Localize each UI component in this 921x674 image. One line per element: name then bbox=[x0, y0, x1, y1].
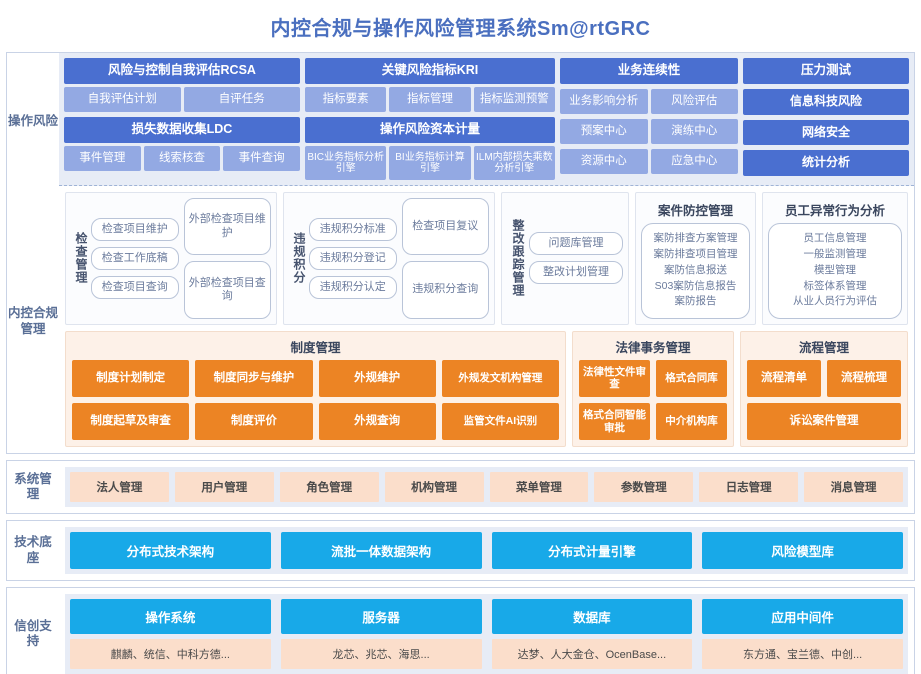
menu-regulatory-doc-ai-recognition[interactable]: 监管文件AI识别 bbox=[442, 403, 559, 440]
module-stress-test-header[interactable]: 压力测试 bbox=[743, 58, 909, 84]
module-kri: 关键风险指标KRI 指标要素 指标管理 指标监测预警 bbox=[305, 58, 555, 112]
menu-bi-engine[interactable]: BI业务指标计算引擎 bbox=[389, 146, 470, 180]
menu-emergency-center[interactable]: 应急中心 bbox=[651, 149, 739, 174]
group-label-inspection: 检查管理 bbox=[71, 198, 91, 319]
menu-menu-management[interactable]: 菜单管理 bbox=[490, 472, 589, 502]
menu-event-management[interactable]: 事件管理 bbox=[64, 146, 141, 171]
system-management-frame: 系统管理 法人管理 用户管理 角色管理 机构管理 菜单管理 参数管理 日志管理 … bbox=[6, 460, 915, 514]
section-label-tech-foundation: 技术底座 bbox=[7, 521, 59, 580]
menu-business-impact-analysis[interactable]: 业务影响分析 bbox=[560, 89, 648, 114]
xinchuang-vendors-os: 麒麟、统信、中科方德... bbox=[70, 639, 271, 669]
menu-litigation-case-management[interactable]: 诉讼案件管理 bbox=[747, 403, 901, 440]
tech-foundation-frame: 技术底座 分布式技术架构 流批一体数据架构 分布式计量引擎 风险模型库 bbox=[6, 520, 915, 581]
menu-process-combing[interactable]: 流程梳理 bbox=[827, 360, 901, 397]
menu-distributed-measurement-engine[interactable]: 分布式计量引擎 bbox=[492, 532, 693, 569]
section-label-xinchuang-support: 信创支持 bbox=[7, 588, 59, 674]
xinchuang-vendors-server: 龙芯、兆芯、海思... bbox=[281, 639, 482, 669]
module-or-capital-header[interactable]: 操作风险资本计量 bbox=[305, 117, 555, 143]
section-label-internal-control: 内控合规管理 bbox=[7, 191, 59, 453]
group-title-process-management: 流程管理 bbox=[747, 336, 901, 360]
module-ldc: 损失数据收集LDC 事件管理 线索核查 事件查询 bbox=[64, 117, 300, 171]
system-management-body: 法人管理 用户管理 角色管理 机构管理 菜单管理 参数管理 日志管理 消息管理 bbox=[59, 461, 914, 513]
main-frame-labels: 操作风险 内控合规管理 bbox=[7, 53, 59, 453]
menu-case-screening-project[interactable]: 案防排查项目管理 bbox=[654, 247, 738, 263]
menu-message-management[interactable]: 消息管理 bbox=[804, 472, 903, 502]
menu-statistical-analysis[interactable]: 统计分析 bbox=[743, 150, 909, 176]
menu-legal-document-review[interactable]: 法律性文件审查 bbox=[579, 360, 650, 397]
section-label-operational-risk: 操作风险 bbox=[7, 53, 59, 191]
module-or-capital: 操作风险资本计量 BIC业务指标分析引擎 BI业务指标计算引擎 ILM内部损失乘… bbox=[305, 117, 555, 180]
title-bar: 内控合规与操作风险管理系统Sm@rtGRC bbox=[0, 0, 921, 52]
xinchuang-head-middleware[interactable]: 应用中间件 bbox=[702, 599, 903, 634]
menu-violation-point-registration[interactable]: 违规积分登记 bbox=[309, 247, 397, 270]
menu-intermediary-agency-library[interactable]: 中介机构库 bbox=[656, 403, 727, 440]
menu-network-security[interactable]: 网络安全 bbox=[743, 120, 909, 146]
menu-it-risk[interactable]: 信息科技风险 bbox=[743, 89, 909, 115]
grc-architecture-diagram: 内控合规与操作风险管理系统Sm@rtGRC 操作风险 内控合规管理 风险与控制自… bbox=[0, 0, 921, 640]
menu-user-management[interactable]: 用户管理 bbox=[175, 472, 274, 502]
internal-control-panel: 检查管理 检查项目维护 检查工作底稿 检查项目查询 外部检查项目维护 外部检查项… bbox=[59, 186, 914, 454]
menu-practitioner-behavior-assessment[interactable]: 从业人员行为评估 bbox=[793, 294, 877, 310]
xinchuang-column-middleware: 应用中间件 东方通、宝兰德、中创... bbox=[702, 599, 903, 669]
menu-policy-drafting-review[interactable]: 制度起草及审查 bbox=[72, 403, 189, 440]
xinchuang-vendors-middleware: 东方通、宝兰德、中创... bbox=[702, 639, 903, 669]
xinchuang-head-database[interactable]: 数据库 bbox=[492, 599, 693, 634]
menu-s03-case-info-report[interactable]: S03案防信息报告 bbox=[655, 279, 737, 295]
menu-distributed-tech-architecture[interactable]: 分布式技术架构 bbox=[70, 532, 271, 569]
menu-drill-center[interactable]: 演练中心 bbox=[651, 119, 739, 144]
menu-external-inspection-query[interactable]: 外部检查项目查询 bbox=[184, 261, 272, 319]
menu-external-regulation-query[interactable]: 外规查询 bbox=[319, 403, 436, 440]
xinchuang-head-server[interactable]: 服务器 bbox=[281, 599, 482, 634]
menu-resource-center[interactable]: 资源中心 bbox=[560, 149, 648, 174]
group-process-management: 流程管理 流程清单 流程梳理 诉讼案件管理 bbox=[740, 331, 908, 447]
menu-legal-entity-management[interactable]: 法人管理 bbox=[70, 472, 169, 502]
menu-bic-engine[interactable]: BIC业务指标分析引擎 bbox=[305, 146, 386, 180]
module-business-continuity-header[interactable]: 业务连续性 bbox=[560, 58, 738, 84]
menu-case-info-submission[interactable]: 案防信息报送 bbox=[664, 263, 727, 279]
menu-log-management[interactable]: 日志管理 bbox=[699, 472, 798, 502]
xinchuang-support-body: 操作系统 麒麟、统信、中科方德... 服务器 龙芯、兆芯、海思... 数据库 达… bbox=[59, 588, 914, 674]
tech-foundation-body: 分布式技术架构 流批一体数据架构 分布式计量引擎 风险模型库 bbox=[59, 521, 914, 580]
page-title: 内控合规与操作风险管理系统Sm@rtGRC bbox=[270, 12, 650, 41]
menu-self-assessment-plan[interactable]: 自我评估计划 bbox=[64, 87, 181, 112]
module-rcsa: 风险与控制自我评估RCSA 自我评估计划 自评任务 bbox=[64, 58, 300, 112]
menu-case-report[interactable]: 案防报告 bbox=[675, 294, 717, 310]
group-violation-points: 违规积分 违规积分标准 违规积分登记 违规积分认定 检查项目复议 违规积分查询 bbox=[283, 192, 495, 325]
xinchuang-vendors-database: 达梦、人大金仓、OcenBase... bbox=[492, 639, 693, 669]
menu-parameter-management[interactable]: 参数管理 bbox=[594, 472, 693, 502]
group-label-violation-points: 违规积分 bbox=[289, 198, 309, 319]
menu-self-assessment-task[interactable]: 自评任务 bbox=[184, 87, 301, 112]
xinchuang-column-server: 服务器 龙芯、兆芯、海思... bbox=[281, 599, 482, 669]
menu-indicator-monitoring-alert[interactable]: 指标监测预警 bbox=[474, 87, 555, 112]
menu-standard-contract-library[interactable]: 格式合同库 bbox=[656, 360, 727, 397]
group-rectification-tracking: 整改跟踪管理 问题库管理 整改计划管理 bbox=[501, 192, 629, 325]
menu-standard-contract-ai-approval[interactable]: 格式合同智能审批 bbox=[579, 403, 650, 440]
module-rcsa-header[interactable]: 风险与控制自我评估RCSA bbox=[64, 58, 300, 84]
main-architecture-frame: 操作风险 内控合规管理 风险与控制自我评估RCSA 自我评估计划 自评任务 bbox=[6, 52, 915, 454]
menu-organization-management[interactable]: 机构管理 bbox=[385, 472, 484, 502]
menu-case-screening-plan[interactable]: 案防排查方案管理 bbox=[654, 231, 738, 247]
menu-role-management[interactable]: 角色管理 bbox=[280, 472, 379, 502]
xinchuang-column-database: 数据库 达梦、人大金仓、OcenBase... bbox=[492, 599, 693, 669]
menu-indicator-management[interactable]: 指标管理 bbox=[389, 87, 470, 112]
group-policy-management: 制度管理 制度计划制定 制度起草及审查 制度同步与维护 制度评价 bbox=[65, 331, 566, 447]
menu-inspection-item-query[interactable]: 检查项目查询 bbox=[91, 276, 179, 299]
menu-inspection-item-maintenance[interactable]: 检查项目维护 bbox=[91, 218, 179, 241]
section-label-system-management: 系统管理 bbox=[7, 461, 59, 513]
operational-risk-panel: 风险与控制自我评估RCSA 自我评估计划 自评任务 损失数据收集LDC 事件管理… bbox=[59, 53, 914, 186]
menu-inspection-item-review[interactable]: 检查项目复议 bbox=[402, 198, 490, 256]
group-title-employee-behavior: 员工异常行为分析 bbox=[768, 198, 902, 223]
menu-employee-info-management[interactable]: 员工信息管理 bbox=[804, 231, 867, 247]
group-label-rectification: 整改跟踪管理 bbox=[507, 198, 529, 319]
menu-issue-library-management[interactable]: 问题库管理 bbox=[529, 232, 623, 255]
menu-stream-batch-data-architecture[interactable]: 流批一体数据架构 bbox=[281, 532, 482, 569]
menu-clue-verification[interactable]: 线索核查 bbox=[144, 146, 221, 171]
group-case-prevention: 案件防控管理 案防排查方案管理 案防排查项目管理 案防信息报送 S03案防信息报… bbox=[635, 192, 756, 325]
xinchuang-column-os: 操作系统 麒麟、统信、中科方德... bbox=[70, 599, 271, 669]
group-title-policy-management: 制度管理 bbox=[72, 336, 559, 360]
menu-list-employee-behavior[interactable]: 员工信息管理 一般监测管理 模型管理 标签体系管理 从业人员行为评估 bbox=[768, 223, 902, 319]
xinchuang-head-os[interactable]: 操作系统 bbox=[70, 599, 271, 634]
menu-plan-center[interactable]: 预案中心 bbox=[560, 119, 648, 144]
menu-indicator-element[interactable]: 指标要素 bbox=[305, 87, 386, 112]
module-ldc-header[interactable]: 损失数据收集LDC bbox=[64, 117, 300, 143]
menu-process-list[interactable]: 流程清单 bbox=[747, 360, 821, 397]
menu-violation-point-determination[interactable]: 违规积分认定 bbox=[309, 276, 397, 299]
group-title-case-prevention: 案件防控管理 bbox=[641, 198, 750, 223]
menu-tag-system-management[interactable]: 标签体系管理 bbox=[804, 279, 867, 295]
menu-risk-model-library[interactable]: 风险模型库 bbox=[702, 532, 903, 569]
group-inspection-management: 检查管理 检查项目维护 检查工作底稿 检查项目查询 外部检查项目维护 外部检查项… bbox=[65, 192, 277, 325]
menu-policy-evaluation[interactable]: 制度评价 bbox=[195, 403, 312, 440]
group-employee-behavior: 员工异常行为分析 员工信息管理 一般监测管理 模型管理 标签体系管理 从业人员行… bbox=[762, 192, 908, 325]
menu-general-monitoring-management[interactable]: 一般监测管理 bbox=[804, 247, 867, 263]
menu-external-issuing-agency-management[interactable]: 外规发文机构管理 bbox=[442, 360, 559, 397]
menu-event-query[interactable]: 事件查询 bbox=[223, 146, 300, 171]
menu-risk-assessment[interactable]: 风险评估 bbox=[651, 89, 739, 114]
menu-violation-point-query[interactable]: 违规积分查询 bbox=[402, 261, 490, 319]
menu-inspection-workpaper[interactable]: 检查工作底稿 bbox=[91, 247, 179, 270]
menu-ilm-engine[interactable]: ILM内部损失乘数分析引擎 bbox=[474, 146, 555, 180]
menu-policy-plan-formulation[interactable]: 制度计划制定 bbox=[72, 360, 189, 397]
menu-policy-sync-maintenance[interactable]: 制度同步与维护 bbox=[195, 360, 312, 397]
menu-model-management[interactable]: 模型管理 bbox=[814, 263, 856, 279]
menu-external-regulation-maintenance[interactable]: 外规维护 bbox=[319, 360, 436, 397]
xinchuang-support-frame: 信创支持 操作系统 麒麟、统信、中科方德... 服务器 龙芯、兆芯、海思... … bbox=[6, 587, 915, 674]
menu-external-inspection-maintenance[interactable]: 外部检查项目维护 bbox=[184, 198, 272, 256]
menu-list-case-prevention[interactable]: 案防排查方案管理 案防排查项目管理 案防信息报送 S03案防信息报告 案防报告 bbox=[641, 223, 750, 319]
group-title-legal-affairs: 法律事务管理 bbox=[579, 336, 727, 360]
menu-rectification-plan-management[interactable]: 整改计划管理 bbox=[529, 261, 623, 284]
module-kri-header[interactable]: 关键风险指标KRI bbox=[305, 58, 555, 84]
group-legal-affairs: 法律事务管理 法律性文件审查 格式合同智能审批 格式合同库 中介机构库 bbox=[572, 331, 734, 447]
menu-violation-point-standard[interactable]: 违规积分标准 bbox=[309, 218, 397, 241]
